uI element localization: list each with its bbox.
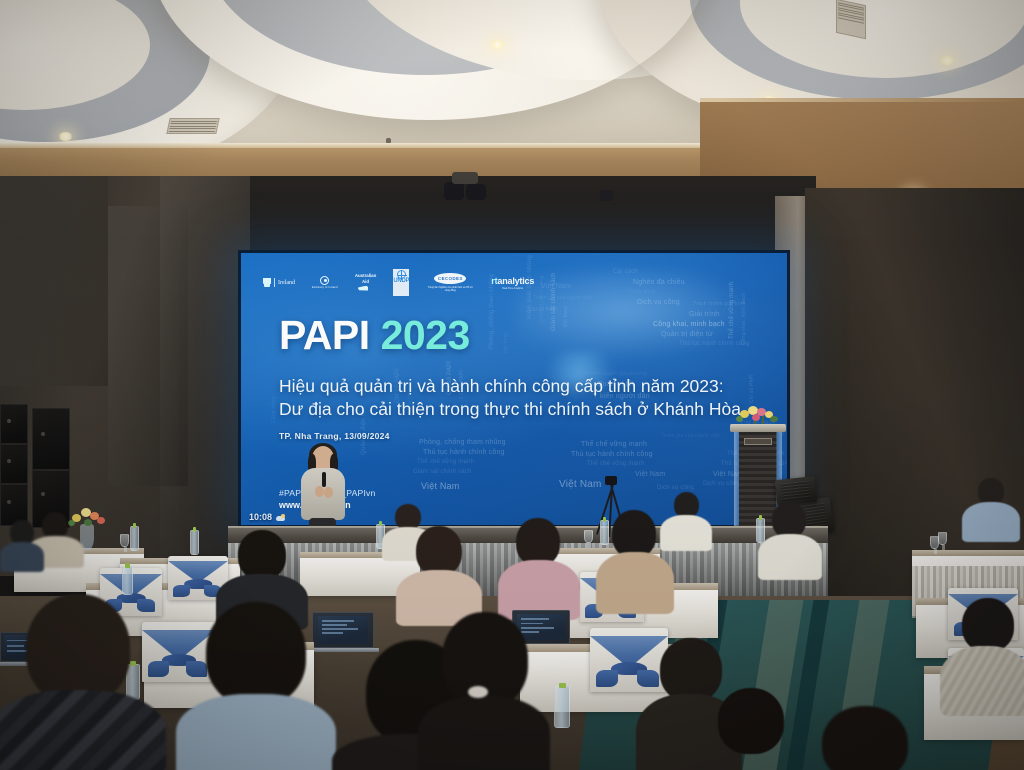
wordcloud-item: Giám sát chính sách <box>413 469 472 475</box>
second-row-attendee <box>396 526 482 622</box>
foreground-attendee <box>788 706 938 770</box>
wordcloud-item: Thủ tục hành chính công <box>571 451 653 458</box>
table-top <box>912 550 1024 556</box>
cecodes-logo: CECODES Trung tâm Nghiên cứu phát triển … <box>426 273 474 292</box>
water-bottle <box>130 526 139 551</box>
slide-title: PAPI 2023 <box>279 315 470 356</box>
pa-speaker-stack <box>0 404 28 444</box>
microphone-icon <box>322 472 326 487</box>
wordcloud-item: Dịch vụ công <box>657 485 694 491</box>
video-camera-icon <box>605 476 617 485</box>
clock-time: 10:08 <box>249 512 272 522</box>
stage-light-fixture <box>600 190 613 201</box>
drinking-glass <box>938 532 947 545</box>
soffit-edge-right <box>700 98 1024 102</box>
stage-light-fixture <box>444 182 464 200</box>
wordcloud-item: Thủ tục hành chính công <box>423 449 505 456</box>
australian-aid-label-line2: Aid <box>362 280 369 285</box>
pa-speaker-stack <box>0 444 28 484</box>
wordcloud-item: Công bằng <box>271 397 277 423</box>
wordcloud-item: Thể chế vững mạnh <box>581 441 647 448</box>
slide-location-date: TP. Nha Trang, 13/09/2024 <box>279 431 390 441</box>
ireland-logo-label: Ireland <box>278 280 295 286</box>
water-bottle <box>122 566 133 595</box>
back-row-attendee <box>962 478 1020 540</box>
australian-aid-logo: Australian Aid <box>355 274 376 290</box>
wordcloud-item: Việt Nam <box>559 479 602 490</box>
slide-logo-row: Ireland Embassy of Ireland Australian Ai… <box>263 269 534 296</box>
water-bottle <box>190 530 199 555</box>
air-vent-icon <box>836 0 866 39</box>
foreground-attendee <box>0 594 166 770</box>
slide-title-year: 2023 <box>381 312 470 358</box>
air-vent-icon <box>166 118 219 134</box>
embassy-logo: Embassy of Ireland <box>312 276 338 289</box>
drinking-glass <box>584 530 593 543</box>
slide-title-papi: PAPI <box>279 312 370 358</box>
slide-subtitle-line1: Hiệu quả quản trị và hành chính công cấp… <box>279 375 769 398</box>
rta-logo-label-post: analytics <box>497 276 534 286</box>
foreground-attendee <box>176 602 336 770</box>
wordcloud-item: Tham gia của người dân <box>661 433 720 439</box>
seal-icon <box>320 276 329 285</box>
slide-subtitle-line2: Dư địa cho cải thiện trong thực thi chín… <box>279 398 769 421</box>
rta-logo-sub: Real-Time Analytics <box>502 287 523 290</box>
second-row-attendee <box>596 510 674 612</box>
drinking-glass <box>120 534 129 547</box>
stage-light-bracket <box>452 172 478 184</box>
shamrock-icon <box>263 278 271 287</box>
second-row-attendee <box>498 518 580 618</box>
undp-logo: UNDP <box>393 269 409 296</box>
ceiling-downlight <box>490 40 505 49</box>
second-row-attendee <box>758 502 822 576</box>
slide-subtitle: Hiệu quả quản trị và hành chính công cấp… <box>279 375 769 422</box>
clock-overlay: 10:08 <box>249 512 285 522</box>
rta-logo: rtanalytics Real-Time Analytics <box>491 276 534 290</box>
stage-light-fixture <box>466 184 486 200</box>
wordcloud-item: Thể chế vững mạnh <box>587 461 644 467</box>
cecodes-logo-sub: Trung tâm Nghiên cứu phát triển và Hỗ tr… <box>426 286 474 292</box>
ceiling-downlight <box>940 56 955 65</box>
un-globe-icon <box>397 270 406 279</box>
cloud-sun-icon <box>276 514 285 521</box>
pa-speaker-stack <box>32 408 70 470</box>
embassy-logo-label: Embassy of Ireland <box>312 286 338 289</box>
ceiling-downlight <box>58 132 73 141</box>
podium-flower-arrangement <box>732 404 784 426</box>
back-row-attendee <box>0 520 44 570</box>
kangaroo-icon <box>358 286 374 291</box>
drinking-glass <box>930 536 939 549</box>
wordcloud-item: Phòng, chống tham nhũng <box>419 439 506 446</box>
wordcloud-item: Hài lòng <box>503 333 509 353</box>
wordcloud-item: Việt Nam <box>421 481 459 491</box>
foreground-attendee <box>940 598 1024 710</box>
hair-tie <box>468 686 488 698</box>
foreground-attendee <box>418 612 550 770</box>
ireland-logo: Ireland <box>263 278 295 287</box>
cecodes-logo-label: CECODES <box>438 276 463 281</box>
wordcloud-item: Thể chế vững mạnh <box>417 459 474 465</box>
wordcloud-item: Việt Nam <box>635 471 665 478</box>
water-bottle <box>554 686 570 728</box>
foreground-attendee <box>690 688 810 770</box>
conference-photo-scene: Cải cách Nghèo đa chiều Công bằng Dịch v… <box>0 0 1024 770</box>
